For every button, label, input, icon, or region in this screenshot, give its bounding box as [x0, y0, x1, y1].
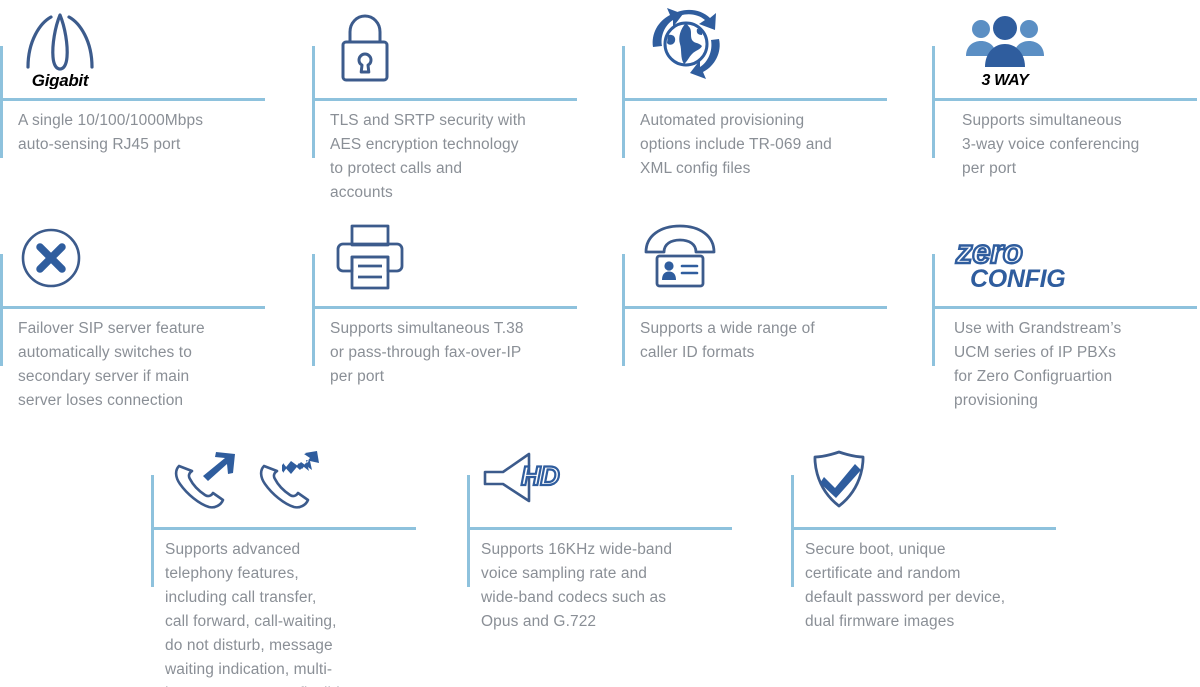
accent-rule-horizontal: [0, 98, 265, 101]
printer-fax-icon: [330, 216, 410, 300]
accent-rule-vertical: [791, 475, 794, 587]
accent-rule-horizontal: [312, 306, 577, 309]
feature-description: Supports advanced telephony features, in…: [165, 538, 415, 687]
feature-description: Failover SIP server feature automaticall…: [18, 317, 268, 413]
accent-rule-vertical: [0, 46, 3, 158]
feature-description: A single 10/100/1000Mbps auto-sensing RJ…: [18, 109, 268, 157]
accent-rule-vertical: [932, 46, 935, 158]
circle-x-icon: [18, 216, 84, 300]
feature-description: Supports 16KHz wide-band voice sampling …: [481, 538, 731, 634]
accent-rule-horizontal: [151, 527, 416, 530]
accent-rule-vertical: [622, 254, 625, 366]
accent-rule-vertical: [312, 46, 315, 158]
accent-rule-vertical: [0, 254, 3, 366]
gigabit-signal-icon: Gigabit: [18, 8, 102, 92]
hd-wordmark-label: HD: [521, 461, 559, 491]
padlock-icon: [330, 8, 400, 92]
feature-description: Secure boot, unique certificate and rand…: [805, 538, 1055, 634]
feature-description: Supports simultaneous 3-way voice confer…: [962, 109, 1200, 181]
config-wordmark-label: CONFIG: [970, 265, 1065, 293]
accent-rule-horizontal: [932, 98, 1197, 101]
gigabit-wordmark-label: Gigabit: [32, 71, 90, 89]
feature-grid: Gigabit A single 10/100/1000Mbps auto-se…: [0, 0, 1200, 687]
accent-rule-horizontal: [312, 98, 577, 101]
feature-description: Supports a wide range of caller ID forma…: [640, 317, 890, 365]
three-people-icon: 3 WAY: [962, 8, 1048, 92]
zero-config-wordmark-icon: zero CONFIG: [954, 222, 1070, 306]
feature-description: TLS and SRTP security with AES encryptio…: [330, 109, 580, 205]
call-transfer-forward-icon: [165, 441, 325, 525]
accent-rule-horizontal: [467, 527, 732, 530]
accent-rule-horizontal: [0, 306, 265, 309]
feature-description: Supports simultaneous T.38 or pass-throu…: [330, 317, 580, 389]
accent-rule-horizontal: [622, 98, 887, 101]
handset-id-card-icon: [640, 216, 720, 300]
globe-recycle-icon: [640, 2, 732, 86]
accent-rule-vertical: [622, 46, 625, 158]
three-way-wordmark-label: 3 WAY: [981, 72, 1030, 88]
feature-description: Automated provisioning options include T…: [640, 109, 890, 181]
accent-rule-vertical: [151, 475, 154, 587]
shield-check-icon: [805, 439, 877, 523]
accent-rule-vertical: [932, 254, 935, 366]
hd-speaker-icon: HD: [481, 439, 577, 523]
accent-rule-horizontal: [791, 527, 1056, 530]
accent-rule-horizontal: [932, 306, 1197, 309]
accent-rule-horizontal: [622, 306, 887, 309]
accent-rule-vertical: [467, 475, 470, 587]
accent-rule-vertical: [312, 254, 315, 366]
feature-description: Use with Grandstream’s UCM series of IP …: [954, 317, 1200, 413]
